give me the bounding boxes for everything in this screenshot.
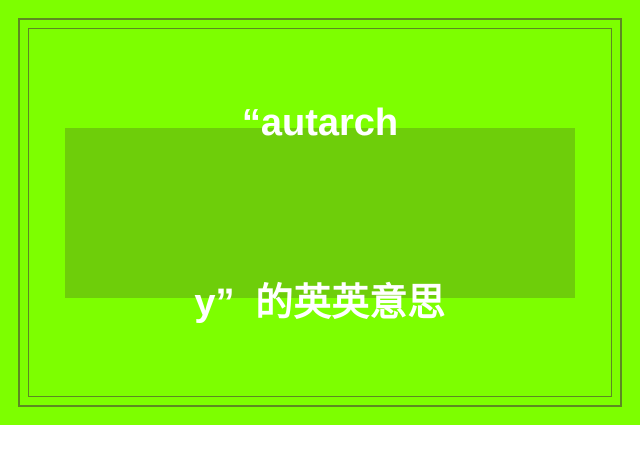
caption-text: “autarch y” 的英英意思 <box>194 0 445 453</box>
caption-panel: “autarch y” 的英英意思 <box>65 128 575 298</box>
title-card: “autarch y” 的英英意思 <box>0 0 640 425</box>
caption-line-2: y” 的英英意思 <box>194 273 445 333</box>
caption-line-1: “autarch <box>194 93 445 153</box>
